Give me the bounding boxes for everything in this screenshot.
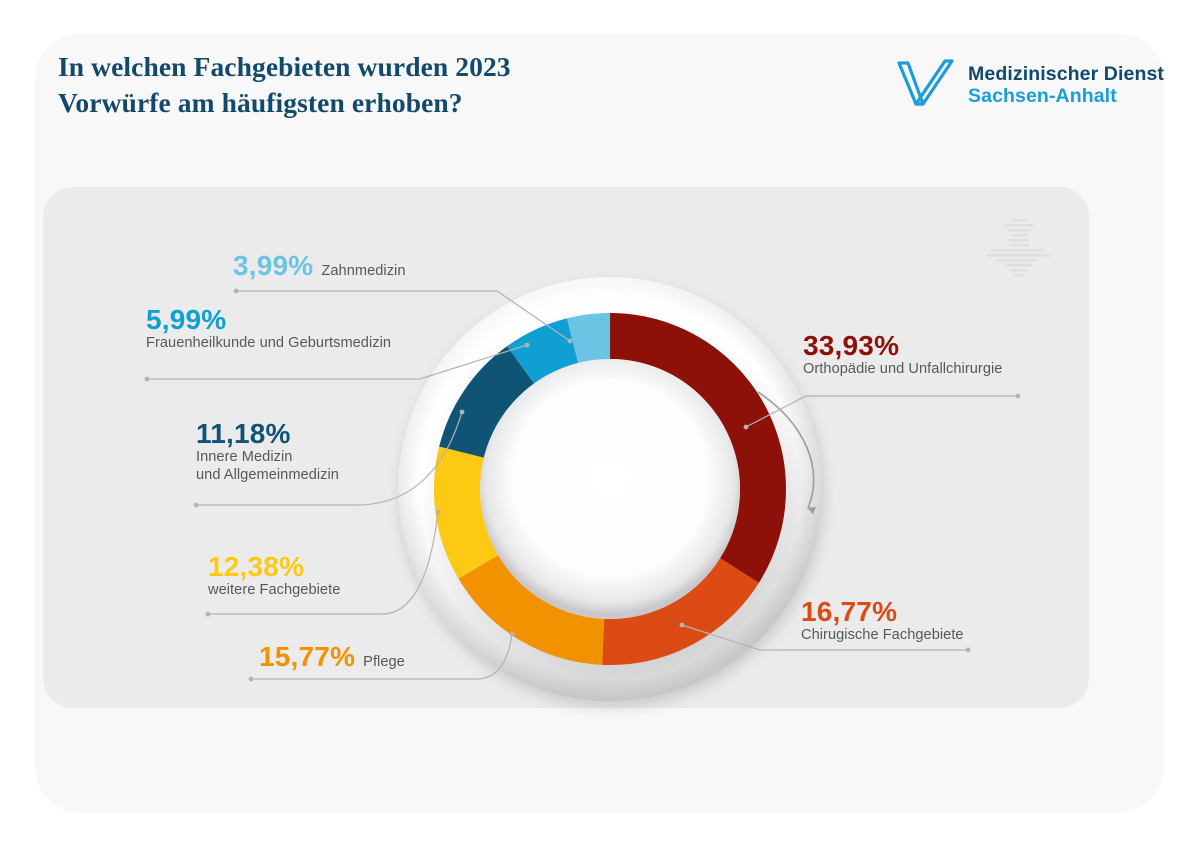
callout-zahnmedizin: 3,99% Zahnmedizin <box>233 251 406 280</box>
donut-chart <box>0 0 1200 849</box>
callout-value-weitere-fachgebiete: 12,38% <box>208 552 340 581</box>
callout-value-orthopaedie: 33,93% <box>803 331 1002 360</box>
callout-orthopaedie: 33,93% Orthopädie und Unfallchirurgie <box>803 331 1002 378</box>
infographic-page: In welchen Fachgebieten wurden 2023 Vorw… <box>0 0 1200 849</box>
callout-innere-medizin: 11,18% Innere Medizin und Allgemeinmediz… <box>196 419 339 485</box>
callout-value-chirugische-fachgebiete: 16,77% <box>801 597 964 626</box>
callout-weitere-fachgebiete: 12,38% weitere Fachgebiete <box>208 552 340 599</box>
callout-value-pflege: 15,77% <box>259 642 355 671</box>
callout-label-pflege: Pflege <box>363 653 405 671</box>
callout-value-innere-medizin: 11,18% <box>196 419 339 448</box>
callout-label-frauenheilkunde: Frauenheilkunde und Geburtsmedizin <box>146 334 391 352</box>
callout-pflege: 15,77% Pflege <box>259 642 405 671</box>
callout-label-chirugische-fachgebiete: Chirugische Fachgebiete <box>801 626 964 644</box>
callout-value-frauenheilkunde: 5,99% <box>146 305 391 334</box>
callout-frauenheilkunde: 5,99% Frauenheilkunde und Geburtsmedizin <box>146 305 391 352</box>
callout-label-zahnmedizin: Zahnmedizin <box>321 262 405 280</box>
callout-label-orthopaedie: Orthopädie und Unfallchirurgie <box>803 360 1002 378</box>
callout-chirugische-fachgebiete: 16,77% Chirugische Fachgebiete <box>801 597 964 644</box>
callout-value-zahnmedizin: 3,99% <box>233 251 313 280</box>
callout-label-innere-medizin: Innere Medizin und Allgemeinmedizin <box>196 448 339 485</box>
callout-label-weitere-fachgebiete: weitere Fachgebiete <box>208 581 340 599</box>
donut-inner-hole <box>480 359 740 619</box>
